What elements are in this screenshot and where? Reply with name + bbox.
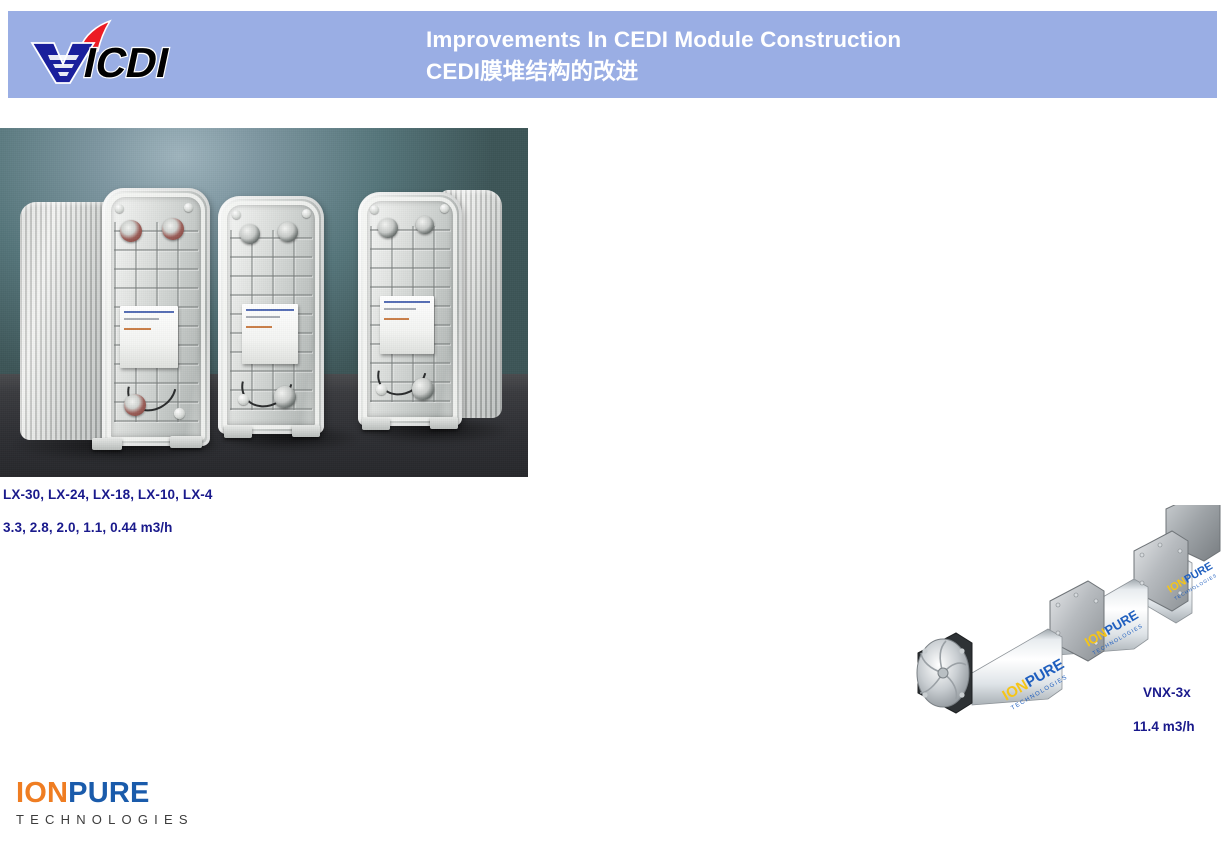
lx-modules-photo: [0, 128, 528, 477]
ionpure-technologies-logo: IONPURE TECHNOLOGIES: [16, 778, 246, 836]
ionpure-word-ion: ION: [16, 777, 68, 809]
svg-text:ICDI: ICDI: [80, 39, 174, 85]
icdi-logo: ICDI: [18, 19, 198, 89]
ionpure-wordmark: IONPURE: [16, 778, 246, 808]
icdi-wordmark: ICDI: [80, 39, 174, 85]
caption-vnx-flow-rate: 11.4 m3/h: [1133, 719, 1195, 734]
slide-header-bar: ICDI Improvements In CEDI Module Constru…: [8, 11, 1217, 98]
caption-lx-flow-rates: 3.3, 2.8, 2.0, 1.1, 0.44 m3/h: [3, 520, 173, 535]
slide-title-block: Improvements In CEDI Module Construction…: [426, 24, 1186, 88]
slide-title-english: Improvements In CEDI Module Construction: [426, 24, 1186, 55]
caption-vnx-model: VNX-3x: [1143, 685, 1191, 700]
slide-title-chinese: CEDI膜堆结构的改进: [426, 55, 1186, 88]
caption-lx-models: LX-30, LX-24, LX-18, LX-10, LX-4: [3, 487, 213, 502]
ionpure-tagline: TECHNOLOGIES: [16, 811, 246, 829]
ionpure-word-pure: PURE: [68, 777, 149, 809]
photo-grain-overlay: [0, 128, 528, 477]
